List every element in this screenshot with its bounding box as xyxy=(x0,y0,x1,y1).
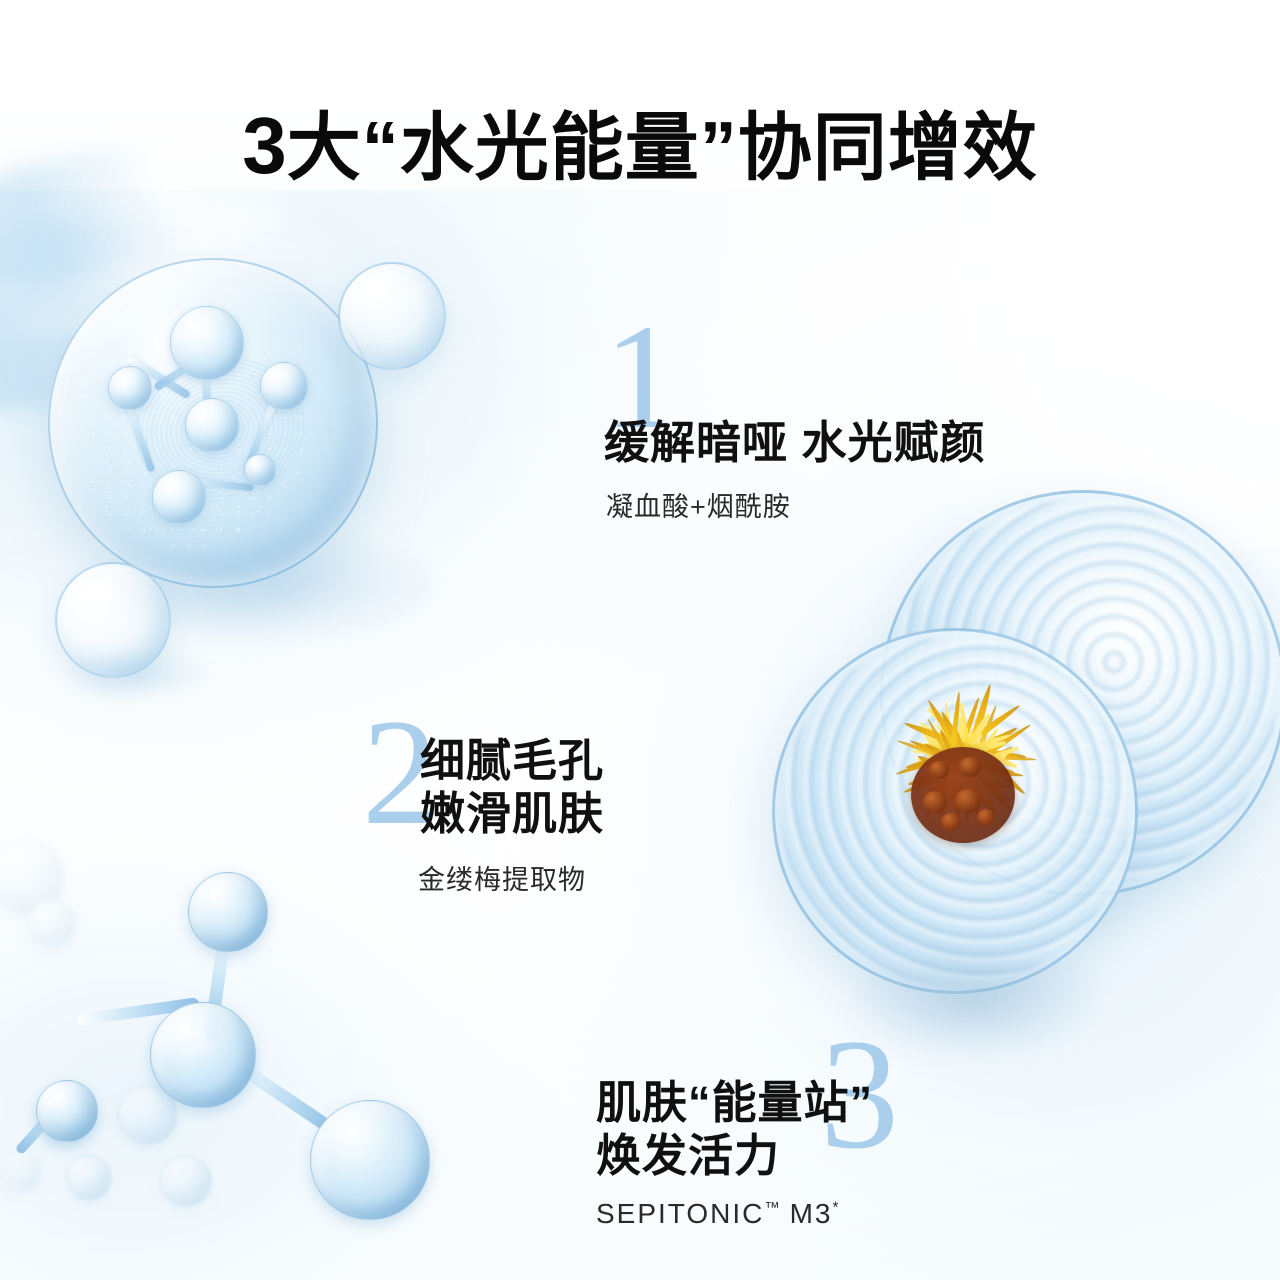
feature-1-body: 缓解暗哑 水光赋颜 凝血酸+烟酰胺 xyxy=(598,406,986,524)
feature-2-headline-line2: 嫩滑肌肤 xyxy=(420,787,604,840)
bg-molecule-node xyxy=(0,1150,42,1192)
mid-molecule-node xyxy=(66,1155,112,1201)
footnote-asterisk: * xyxy=(832,1200,838,1217)
feature-3-headline-line1: 肌肤“能量站” xyxy=(596,1076,873,1129)
molecule-node-top xyxy=(170,306,244,380)
flower-core xyxy=(911,747,1015,843)
mid-molecule-node xyxy=(160,1155,212,1207)
ingredient-grade: M3 xyxy=(780,1198,833,1229)
glass-molecule-node-center xyxy=(150,1002,256,1108)
page-title: 3大“水光能量”协同增效 xyxy=(0,88,1280,195)
feature-1-ingredient: 凝血酸+烟酰胺 xyxy=(606,485,986,524)
feature-1-headline: 缓解暗哑 水光赋颜 xyxy=(604,406,986,471)
feature-block-3: 3 肌肤“能量站” 焕发活力 SEPITONIC™ M3* xyxy=(596,1028,873,1230)
flower-core-dot xyxy=(955,789,981,813)
product-infographic-page: 3大“水光能量”协同增效 1 缓解暗哑 水光赋颜 凝血酸+烟酰胺 2 细腻毛孔 … xyxy=(0,0,1280,1280)
molecule-node-center xyxy=(185,398,239,452)
flower-core-dot xyxy=(977,809,995,826)
glass-molecule-node-right xyxy=(310,1100,430,1220)
molecule-node-bottom-left xyxy=(152,470,206,524)
bg-molecule-node xyxy=(28,900,76,948)
feature-block-2: 2 细腻毛孔 嫩滑肌肤 金缕梅提取物 xyxy=(362,696,604,897)
molecule-node-left xyxy=(108,366,152,410)
witch-hazel-flower xyxy=(838,660,1088,930)
trademark-icon: ™ xyxy=(764,1200,779,1217)
feature-3-body: 肌肤“能量站” 焕发活力 SEPITONIC™ M3* xyxy=(596,1076,873,1230)
bubble-drop-shadow xyxy=(68,650,208,696)
feature-3-headline-line2: 焕发活力 xyxy=(596,1129,873,1182)
glass-molecule-node-top xyxy=(188,872,268,952)
ingredient-name: SEPITONIC xyxy=(596,1198,764,1229)
glass-molecule-node-lower-left xyxy=(36,1080,98,1142)
feature-2-headline-line1: 细腻毛孔 xyxy=(420,734,604,787)
feature-block-1: 1 缓解暗哑 水光赋颜 凝血酸+烟酰胺 xyxy=(598,308,986,524)
molecule-node-bottom-right xyxy=(244,454,276,486)
feature-2-ingredient: 金缕梅提取物 xyxy=(418,858,604,897)
flower-core-dot xyxy=(959,757,981,777)
flower-core-dot xyxy=(923,791,947,813)
satellite-bubble-upper xyxy=(338,262,446,370)
molecule-node-right xyxy=(260,362,308,410)
title-text: 大“水光能量”协同增效 xyxy=(287,106,1038,189)
hydration-molecule-sphere xyxy=(48,258,378,588)
feature-3-ingredient: SEPITONIC™ M3* xyxy=(596,1198,873,1230)
flower-core-dot xyxy=(929,761,949,779)
title-number: 3 xyxy=(242,101,287,190)
feature-2-body: 细腻毛孔 嫩滑肌肤 金缕梅提取物 xyxy=(362,734,604,897)
flower-core-dot xyxy=(941,813,961,831)
